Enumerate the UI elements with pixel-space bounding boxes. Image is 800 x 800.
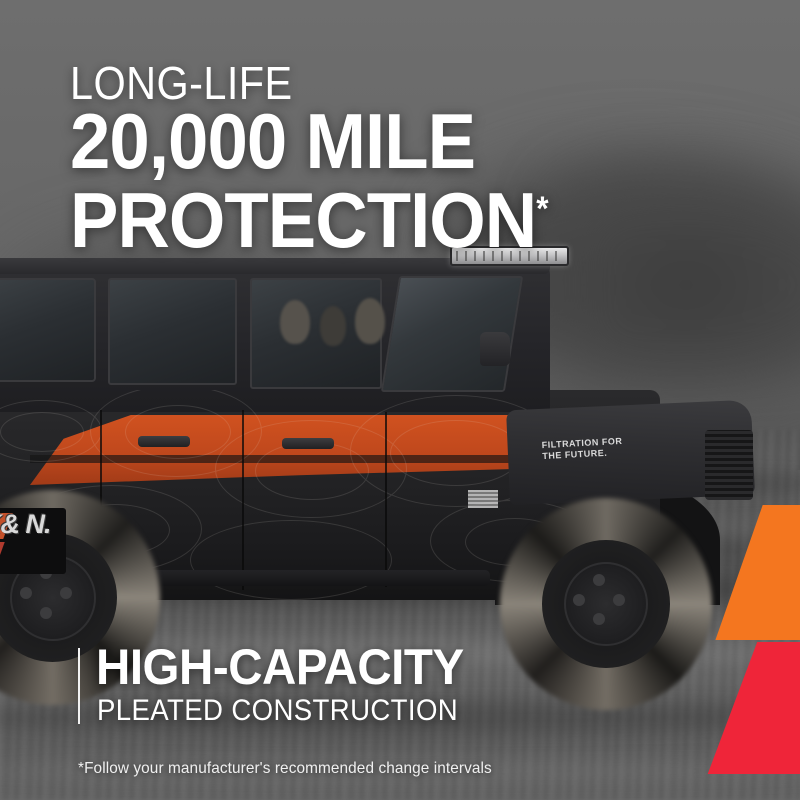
- occupant-silhouette: [355, 298, 385, 344]
- middle-window: [108, 278, 237, 385]
- front-grille: [705, 430, 753, 500]
- headline-line-1: 20,000 MILE: [70, 104, 475, 178]
- lug-nut: [40, 607, 52, 619]
- flag-decal: [468, 490, 498, 508]
- subhead-divider-rule: [78, 648, 80, 724]
- kn-logo-red-bar: [0, 542, 5, 568]
- subhead-title: HIGH-CAPACITY: [96, 640, 464, 694]
- headline-line-2: PROTECTION*: [70, 172, 548, 257]
- lug-nut: [613, 594, 625, 606]
- occupant-silhouette: [320, 306, 346, 346]
- advertisement-banner: FILTRATION FOR THE FUTURE.: [0, 0, 800, 800]
- lug-nut: [593, 613, 605, 625]
- rear-window: [0, 278, 96, 382]
- hood-decal-text: FILTRATION FOR THE FUTURE.: [541, 436, 623, 462]
- side-mirror: [480, 332, 510, 366]
- kn-logo-text: K& N.: [0, 510, 51, 539]
- door-handle: [282, 438, 334, 449]
- front-wheel: [500, 498, 712, 710]
- disclaimer-text: *Follow your manufacturer's recommended …: [78, 760, 492, 778]
- headline-asterisk: *: [536, 190, 547, 228]
- subhead-subtitle: PLEATED CONSTRUCTION: [97, 694, 458, 728]
- door-seam: [242, 410, 244, 590]
- wheel-rim: [564, 562, 649, 647]
- lug-nut: [573, 594, 585, 606]
- door-seam: [385, 412, 387, 587]
- lug-nut: [20, 587, 32, 599]
- headline-line-2-text: PROTECTION: [70, 176, 536, 264]
- lug-nut: [60, 587, 72, 599]
- occupant-silhouette: [280, 300, 310, 344]
- door-handle: [138, 436, 190, 447]
- lug-nut: [593, 574, 605, 586]
- kn-logo-decal: K& N.: [0, 508, 66, 574]
- offroad-suv: FILTRATION FOR THE FUTURE.: [0, 240, 790, 640]
